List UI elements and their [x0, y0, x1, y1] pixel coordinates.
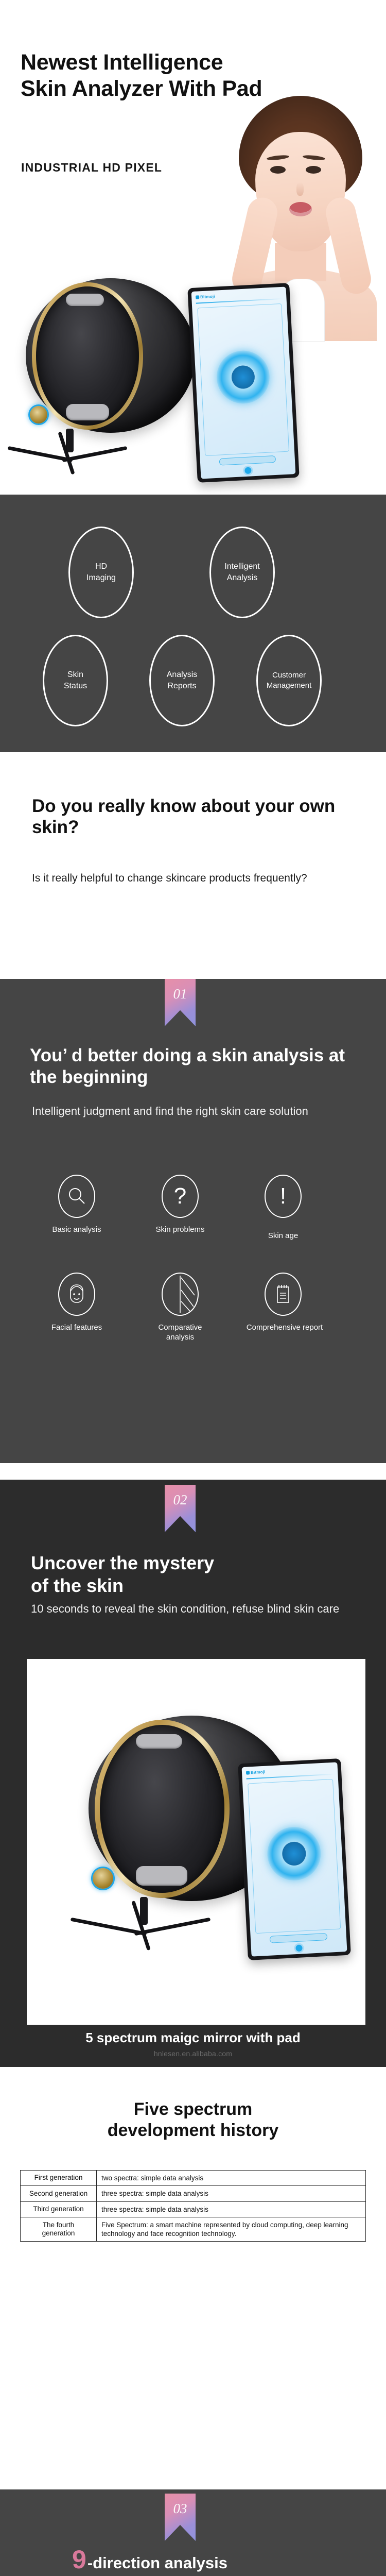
- table-row: The fourth generation Five Spectrum: a s…: [21, 2217, 366, 2242]
- device-chin-rest: [136, 1866, 187, 1886]
- icon-label-skin-age: Skin age: [254, 1231, 312, 1241]
- watermark: hnlesen.en.alibaba.com: [0, 2049, 386, 2058]
- hero-section: Newest Intelligence Skin Analyzer With P…: [0, 0, 386, 495]
- feature-circle-hd-imaging[interactable]: HD Imaging: [68, 527, 134, 618]
- feature-label: Analysis Reports: [167, 669, 198, 691]
- feature-label: Intelligent Analysis: [224, 561, 260, 583]
- table-cell-description: three spectra: simple data analysis: [97, 2201, 366, 2217]
- icon-label-skin-problems: Skin problems: [151, 1225, 209, 1235]
- table-cell-generation: The fourth generation: [21, 2217, 97, 2242]
- screen-brand-label: Bitmoji: [196, 294, 215, 300]
- device-forehead-rest: [66, 294, 104, 306]
- magnifier-icon: [66, 1186, 87, 1207]
- icon-circle-basic-analysis[interactable]: [58, 1175, 95, 1218]
- tablet-screen[interactable]: Bitmoji: [191, 286, 296, 479]
- product-photo-box: Bitmoji: [27, 1659, 365, 2025]
- section-number: 02: [173, 1492, 187, 1532]
- section-03-ribbon: 03: [165, 2494, 196, 2541]
- tablet-screen[interactable]: Bitmoji: [241, 1762, 347, 1956]
- feature-circle-analysis-reports[interactable]: Analysis Reports: [149, 635, 215, 726]
- gear-icon[interactable]: [295, 1944, 303, 1952]
- gear-icon[interactable]: [244, 467, 252, 474]
- section-03: 03 9 -direction analysis Combine hundred…: [0, 2489, 386, 2576]
- icon-circle-skin-age[interactable]: !: [265, 1175, 302, 1218]
- table-row: Second generation three spectra: simple …: [21, 2186, 366, 2201]
- hero-subtitle: INDUSTRIAL HD PIXEL: [21, 161, 162, 175]
- feature-circle-skin-status[interactable]: Skin Status: [43, 635, 108, 726]
- section-03-heading-rest: -direction analysis: [87, 2554, 227, 2572]
- question-heading: Do you really know about your own skin?: [32, 795, 351, 838]
- question-section: Do you really know about your own skin? …: [0, 752, 386, 979]
- history-title-line2: development history: [0, 2120, 386, 2141]
- device-power-button[interactable]: [30, 406, 47, 423]
- screen-action-tag[interactable]: [270, 1933, 327, 1943]
- device-chin-rest: [66, 404, 109, 420]
- table-row: Third generation three spectra: simple d…: [21, 2201, 366, 2217]
- model-eye-right: [306, 166, 321, 174]
- feature-circle-intelligent-analysis[interactable]: Intelligent Analysis: [209, 527, 275, 618]
- face-icon: [66, 1283, 87, 1306]
- table-cell-generation: Third generation: [21, 2201, 97, 2217]
- page-title-line1: Newest Intelligence: [21, 49, 350, 76]
- feature-label: Skin Status: [64, 669, 87, 691]
- table-cell-generation: First generation: [21, 2171, 97, 2186]
- section-number: 01: [173, 986, 187, 1026]
- section-02-subtext: 10 seconds to reveal the skin condition,…: [31, 1601, 360, 1616]
- table-cell-description: Five Spectrum: a smart machine represent…: [97, 2217, 366, 2242]
- icon-label-facial-features: Facial features: [48, 1323, 106, 1333]
- screen-progress-bar: [196, 298, 283, 304]
- feature-label: HD Imaging: [86, 561, 116, 583]
- icon-label-comprehensive-report: Comprehensive report: [246, 1323, 323, 1333]
- table-cell-description: two spectra: simple data analysis: [97, 2171, 366, 2186]
- screen-action-tag[interactable]: [219, 455, 276, 466]
- section-02-heading-line2: of the skin: [31, 1574, 124, 1597]
- tablet-device-hero[interactable]: Bitmoji: [187, 283, 300, 483]
- section-02-ribbon: 02: [165, 1485, 196, 1532]
- notepad-icon: [274, 1283, 292, 1306]
- table-cell-generation: Second generation: [21, 2186, 97, 2201]
- icon-circle-comparative-analysis[interactable]: [162, 1273, 199, 1316]
- divider-gap-1: [0, 1463, 386, 1480]
- section-02-heading-line1: Uncover the mystery: [31, 1552, 214, 1574]
- feature-circle-customer-management[interactable]: Customer Management: [256, 635, 322, 726]
- tablet-device-large[interactable]: Bitmoji: [238, 1758, 351, 1960]
- table-row: First generation two spectra: simple dat…: [21, 2171, 366, 2186]
- history-title-line1: Five spectrum: [0, 2099, 386, 2120]
- screen-progress-bar: [247, 1774, 334, 1780]
- question-mark-icon: ?: [174, 1185, 186, 1208]
- device-power-button[interactable]: [93, 1868, 113, 1889]
- section-01: 01 You’ d better doing a skin analysis a…: [0, 979, 386, 1463]
- question-subtext: Is it really helpful to change skincare …: [32, 871, 356, 886]
- section-03-heading-number: 9: [72, 2549, 86, 2570]
- device-stand: [5, 429, 139, 470]
- page-title: Newest Intelligence Skin Analyzer With P…: [21, 49, 350, 101]
- section-01-subheading: Intelligent judgment and find the right …: [32, 1104, 361, 1118]
- icon-circle-facial-features[interactable]: [58, 1273, 95, 1316]
- section-03-heading: 9 -direction analysis: [72, 2549, 227, 2572]
- icon-label-basic-analysis: Basic analysis: [48, 1225, 106, 1235]
- feature-label: Customer Management: [267, 670, 312, 691]
- history-table: First generation two spectra: simple dat…: [20, 2170, 366, 2242]
- table-cell-description: three spectra: simple data analysis: [97, 2186, 366, 2201]
- section-number: 03: [173, 2501, 187, 2541]
- product-detail-page: Newest Intelligence Skin Analyzer With P…: [0, 0, 386, 2576]
- device-stand: [68, 1897, 222, 1948]
- screen-brand-label: Bitmoji: [246, 1770, 266, 1775]
- history-section: Five spectrum development history First …: [0, 2067, 386, 2438]
- icon-label-comparative-analysis: Comparative analysis: [146, 1323, 214, 1343]
- exclamation-mark-icon: !: [280, 1185, 286, 1208]
- section-01-ribbon: 01: [165, 979, 196, 1026]
- section-02: 02 Uncover the mystery of the skin 10 se…: [0, 1480, 386, 2067]
- model-nose: [296, 182, 304, 196]
- history-title: Five spectrum development history: [0, 2099, 386, 2142]
- icon-circle-skin-problems[interactable]: ?: [162, 1175, 199, 1218]
- feature-circles-section: HD Imaging Intelligent Analysis Skin Sta…: [0, 495, 386, 752]
- pie-compare-icon: [164, 1275, 197, 1314]
- model-eye-left: [270, 166, 286, 174]
- device-forehead-rest: [136, 1734, 182, 1749]
- section-02-caption: 5 spectrum maigc mirror with pad: [0, 2030, 386, 2046]
- section-01-heading: You’ d better doing a skin analysis at t…: [30, 1045, 359, 1088]
- model-mouth: [289, 202, 312, 216]
- icon-circle-comprehensive-report[interactable]: [265, 1273, 302, 1316]
